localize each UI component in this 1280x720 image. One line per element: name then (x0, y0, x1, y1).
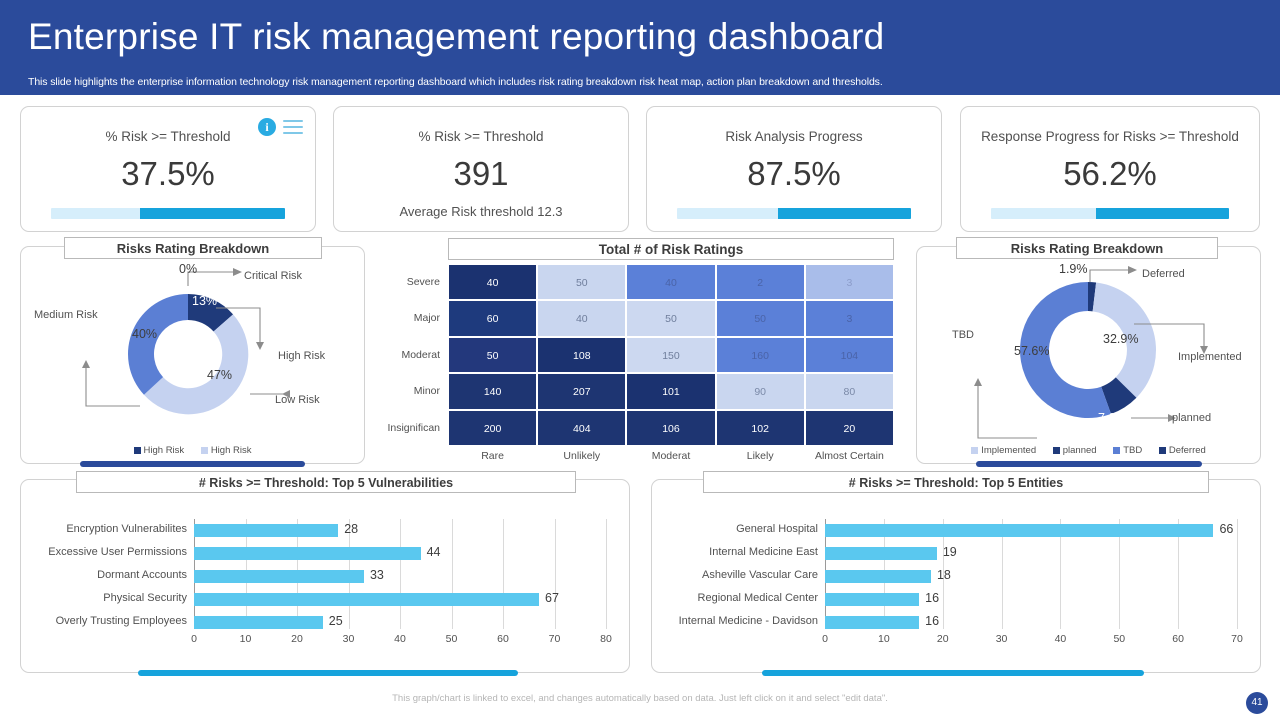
heatmap-cell[interactable]: 404 (537, 410, 626, 446)
kpi-subtext: Average Risk threshold 12.3 (334, 204, 628, 219)
chart-category-label: Overly Trusting Employees (20, 615, 194, 627)
footer-note: This graph/chart is linked to excel, and… (0, 693, 1280, 704)
donut-left-annotation-high: High Risk (278, 350, 325, 362)
chart-category-label: Internal Medicine - Davidson (651, 615, 825, 627)
slide-root: Enterprise IT risk management reporting … (0, 0, 1280, 720)
chart-category-label: Excessive User Permissions (20, 546, 194, 558)
chart-x-tick-label: 10 (870, 633, 898, 645)
donut-left-pct-high: 13% (192, 294, 217, 308)
chart-bar[interactable] (825, 570, 931, 583)
chart-x-tick-label: 80 (592, 633, 620, 645)
panel-title-vulnerabilities: # Risks >= Threshold: Top 5 Vulnerabilit… (76, 471, 576, 493)
heatmap-cell[interactable]: 50 (716, 300, 805, 336)
legend-label: TBD (1123, 445, 1142, 456)
heatmap-cell[interactable]: 40 (626, 264, 715, 300)
chart-bar[interactable] (825, 547, 937, 560)
bar-chart-vulnerabilities: 01020304050607080Encryption Vulnerabilit… (20, 479, 630, 673)
chart-bar[interactable] (194, 593, 539, 606)
donut-right-annotation-tbd: TBD (952, 329, 974, 341)
heatmap-column-label: Almost Certain (805, 450, 894, 462)
heatmap-row-label: Minor (414, 373, 448, 409)
legend-item: TBD (1113, 445, 1142, 456)
chart-x-tick-label: 40 (1046, 633, 1074, 645)
donut-left-legend: High Risk High Risk (20, 445, 365, 456)
chart-category-label: Encryption Vulnerabilites (20, 523, 194, 535)
kpi-value: 37.5% (21, 155, 315, 193)
page-title: Enterprise IT risk management reporting … (28, 16, 884, 58)
heatmap-cell[interactable]: 150 (626, 337, 715, 373)
chart-bar-value: 19 (943, 545, 957, 559)
donut-left-leaders (86, 272, 290, 406)
heatmap-cell[interactable]: 20 (805, 410, 894, 446)
chart-gridline (606, 519, 607, 629)
kpi-label: Response Progress for Risks >= Threshold (961, 129, 1259, 144)
legend-item: Implemented (971, 445, 1036, 456)
legend-swatch-high-risk-light (201, 447, 208, 454)
kpi-value: 391 (334, 155, 628, 193)
heatmap-column-label: Likely (716, 450, 805, 462)
legend-label: High Risk (211, 445, 252, 456)
panel-title-risks-rating-right: Risks Rating Breakdown (956, 237, 1218, 259)
donut-left-annotation-medium: Medium Risk (34, 309, 98, 321)
chart-x-tick-label: 40 (386, 633, 414, 645)
heatmap-cell[interactable]: 3 (805, 264, 894, 300)
heatmap-cell[interactable]: 2 (716, 264, 805, 300)
chart-gridline (452, 519, 453, 629)
chart-gridline (503, 519, 504, 629)
heatmap-cell[interactable]: 80 (805, 373, 894, 409)
panel-title-heatmap: Total # of Risk Ratings (448, 238, 894, 260)
chart-bar[interactable] (194, 570, 364, 583)
heatmap-cell[interactable]: 106 (626, 410, 715, 446)
heatmap-cell[interactable]: 207 (537, 373, 626, 409)
kpi-label: Risk Analysis Progress (647, 129, 941, 144)
chart-gridline (1237, 519, 1238, 629)
kpi-card-risk-count[interactable]: % Risk >= Threshold 391 Average Risk thr… (333, 106, 629, 232)
legend-swatch-tbd (1113, 447, 1120, 454)
kpi-card-response-progress[interactable]: Response Progress for Risks >= Threshold… (960, 106, 1260, 232)
panel-title-risks-rating-left: Risks Rating Breakdown (64, 237, 322, 259)
heatmap-cell[interactable]: 104 (805, 337, 894, 373)
donut-right-pct-planned: 7.6% (1098, 411, 1127, 425)
chart-x-tick-label: 0 (811, 633, 839, 645)
donut-left-annotation-low: Low Risk (275, 394, 320, 406)
chart-bar[interactable] (194, 616, 323, 629)
legend-swatch-high-risk-dark (134, 447, 141, 454)
legend-swatch-implemented (971, 447, 978, 454)
chart-bar-value: 28 (344, 522, 358, 536)
chart-x-tick-label: 50 (1105, 633, 1133, 645)
chart-category-label: General Hospital (651, 523, 825, 535)
chart-category-label: Physical Security (20, 592, 194, 604)
heatmap-cell[interactable]: 102 (716, 410, 805, 446)
chart-bar-value: 18 (937, 568, 951, 582)
heatmap-grid: Severe40504023Major604050503Moderat50108… (448, 264, 894, 446)
kpi-value: 56.2% (961, 155, 1259, 193)
heatmap-cell[interactable]: 50 (537, 264, 626, 300)
chart-bar-value: 16 (925, 591, 939, 605)
chart-x-tick-label: 20 (929, 633, 957, 645)
heatmap-column-label: Rare (448, 450, 537, 462)
donut-right-annotation-planned: planned (1172, 412, 1211, 424)
heatmap-cell[interactable]: 140 (448, 373, 537, 409)
panel-title-entities: # Risks >= Threshold: Top 5 Entities (703, 471, 1209, 493)
chart-bar[interactable] (825, 616, 919, 629)
chart-gridline (555, 519, 556, 629)
chart-bar-value: 33 (370, 568, 384, 582)
heatmap-cell[interactable]: 40 (448, 264, 537, 300)
donut-left-label-zero: 0% (179, 262, 197, 276)
kpi-progress-bar (677, 208, 911, 219)
heatmap-cell[interactable]: 200 (448, 410, 537, 446)
chart-category-label: Regional Medical Center (651, 592, 825, 604)
legend-item: High Risk (134, 445, 185, 456)
heatmap-cell[interactable]: 101 (626, 373, 715, 409)
chart-bar-value: 67 (545, 591, 559, 605)
donut-right-annotation-implemented: Implemented (1178, 351, 1242, 363)
chart-bar-value: 44 (427, 545, 441, 559)
kpi-progress-fill (778, 208, 911, 219)
kpi-progress-fill (140, 208, 285, 219)
heatmap-cell[interactable]: 3 (805, 300, 894, 336)
legend-label: planned (1063, 445, 1097, 456)
donut-chart-left: 0% Critical Risk High Risk Low Risk Medi… (20, 246, 365, 464)
kpi-progress-bar (51, 208, 285, 219)
donut-left-arrowheads (82, 268, 290, 398)
chart-x-tick-label: 20 (283, 633, 311, 645)
heatmap-cell[interactable]: 50 (626, 300, 715, 336)
kpi-value: 87.5% (647, 155, 941, 193)
chart-category-label: Internal Medicine East (651, 546, 825, 558)
donut-right-pct-deferred: 1.9% (1059, 262, 1088, 276)
donut-right-pct-implemented: 32.9% (1103, 332, 1138, 346)
heatmap-cell[interactable]: 60 (448, 300, 537, 336)
chart-x-tick-label: 30 (988, 633, 1016, 645)
chart-bar-value: 25 (329, 614, 343, 628)
heatmap-column-label: Unlikely (537, 450, 626, 462)
donut-right-pct-tbd: 57.6% (1014, 344, 1049, 358)
heatmap-cell[interactable]: 90 (716, 373, 805, 409)
chart-x-tick-label: 60 (1164, 633, 1192, 645)
donut-left-pct-medium: 40% (132, 327, 157, 341)
heatmap-column-label: Moderat (626, 450, 715, 462)
page-subtitle: This slide highlights the enterprise inf… (28, 76, 883, 88)
chart-bar[interactable] (825, 593, 919, 606)
kpi-label: % Risk >= Threshold (334, 129, 628, 144)
legend-item: High Risk (201, 445, 252, 456)
chart-bar[interactable] (194, 547, 421, 560)
heatmap-cell[interactable]: 108 (537, 337, 626, 373)
kpi-card-risk-analysis-progress[interactable]: Risk Analysis Progress 87.5% (646, 106, 942, 232)
heatmap-row-label: Severe (407, 264, 448, 300)
legend-item: planned (1053, 445, 1097, 456)
donut-right-annotation-deferred: Deferred (1142, 268, 1185, 280)
kpi-progress-fill (1096, 208, 1229, 219)
donut-slice-medium (128, 294, 188, 395)
heatmap-cell[interactable]: 50 (448, 337, 537, 373)
chart-bar[interactable] (825, 524, 1213, 537)
kpi-label: % Risk >= Threshold (21, 129, 315, 144)
chart-x-tick-label: 50 (438, 633, 466, 645)
heatmap-cell[interactable]: 160 (716, 337, 805, 373)
donut-left-annotation-critical: Critical Risk (244, 270, 302, 282)
heatmap-cell[interactable]: 40 (537, 300, 626, 336)
legend-item: Deferred (1159, 445, 1206, 456)
legend-label: Deferred (1169, 445, 1206, 456)
kpi-progress-bar (991, 208, 1229, 219)
legend-swatch-deferred (1159, 447, 1166, 454)
heatmap-row-label: Moderat (401, 337, 448, 373)
donut-chart-right: 1.9% Deferred Implemented planned TBD 32… (916, 246, 1261, 464)
chart-x-tick-label: 60 (489, 633, 517, 645)
slide-header: Enterprise IT risk management reporting … (0, 0, 1280, 95)
chart-x-tick-label: 70 (1223, 633, 1251, 645)
legend-label: High Risk (144, 445, 185, 456)
page-number-badge: 41 (1246, 692, 1268, 714)
chart-x-tick-label: 0 (180, 633, 208, 645)
chart-x-tick-label: 30 (335, 633, 363, 645)
chart-bar[interactable] (194, 524, 338, 537)
chart-x-tick-label: 70 (541, 633, 569, 645)
chart-x-tick-label: 10 (232, 633, 260, 645)
donut-left-pct-low: 47% (207, 368, 232, 382)
chart-bar-value: 66 (1219, 522, 1233, 536)
chart-gridline (400, 519, 401, 629)
chart-category-label: Asheville Vascular Care (651, 569, 825, 581)
heatmap-row-label: Major (414, 300, 448, 336)
kpi-card-risk-threshold-pct[interactable]: i % Risk >= Threshold 37.5% (20, 106, 316, 232)
legend-swatch-planned (1053, 447, 1060, 454)
chart-category-label: Dormant Accounts (20, 569, 194, 581)
chart-bar-value: 16 (925, 614, 939, 628)
bar-chart-entities: 010203040506070General Hospital66Interna… (651, 479, 1261, 673)
legend-label: Implemented (981, 445, 1036, 456)
heatmap-row-label: Insignifican (387, 410, 448, 446)
donut-right-legend: Implemented planned TBD Deferred (916, 445, 1261, 456)
